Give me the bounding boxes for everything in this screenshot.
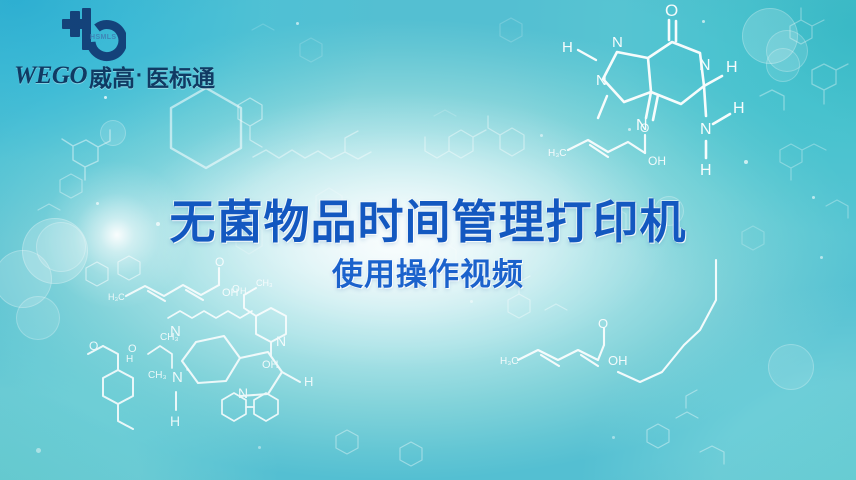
brand-wordmark: WEGO 威高 · 医标通 [14, 62, 194, 90]
title-card-slide: O N H N N H H N N H [0, 0, 856, 480]
mark-inner-label: HSMLS [90, 34, 117, 41]
wordmark-cjk-2: 医标通 [146, 59, 215, 93]
wordmark-latin: WEGO [14, 62, 87, 90]
title-group: 无菌物品时间管理打印机 使用操作视频 [0, 196, 856, 293]
page-subtitle: 使用操作视频 [0, 257, 856, 293]
wordmark-separator: · [136, 64, 143, 88]
wordmark-cjk-1: 威高 [89, 59, 135, 93]
page-title: 无菌物品时间管理打印机 [0, 196, 856, 248]
wego-hsmls-mark-icon: HSMLS [60, 6, 126, 62]
brand-logo[interactable]: HSMLS WEGO 威高 · 医标通 [14, 6, 194, 90]
